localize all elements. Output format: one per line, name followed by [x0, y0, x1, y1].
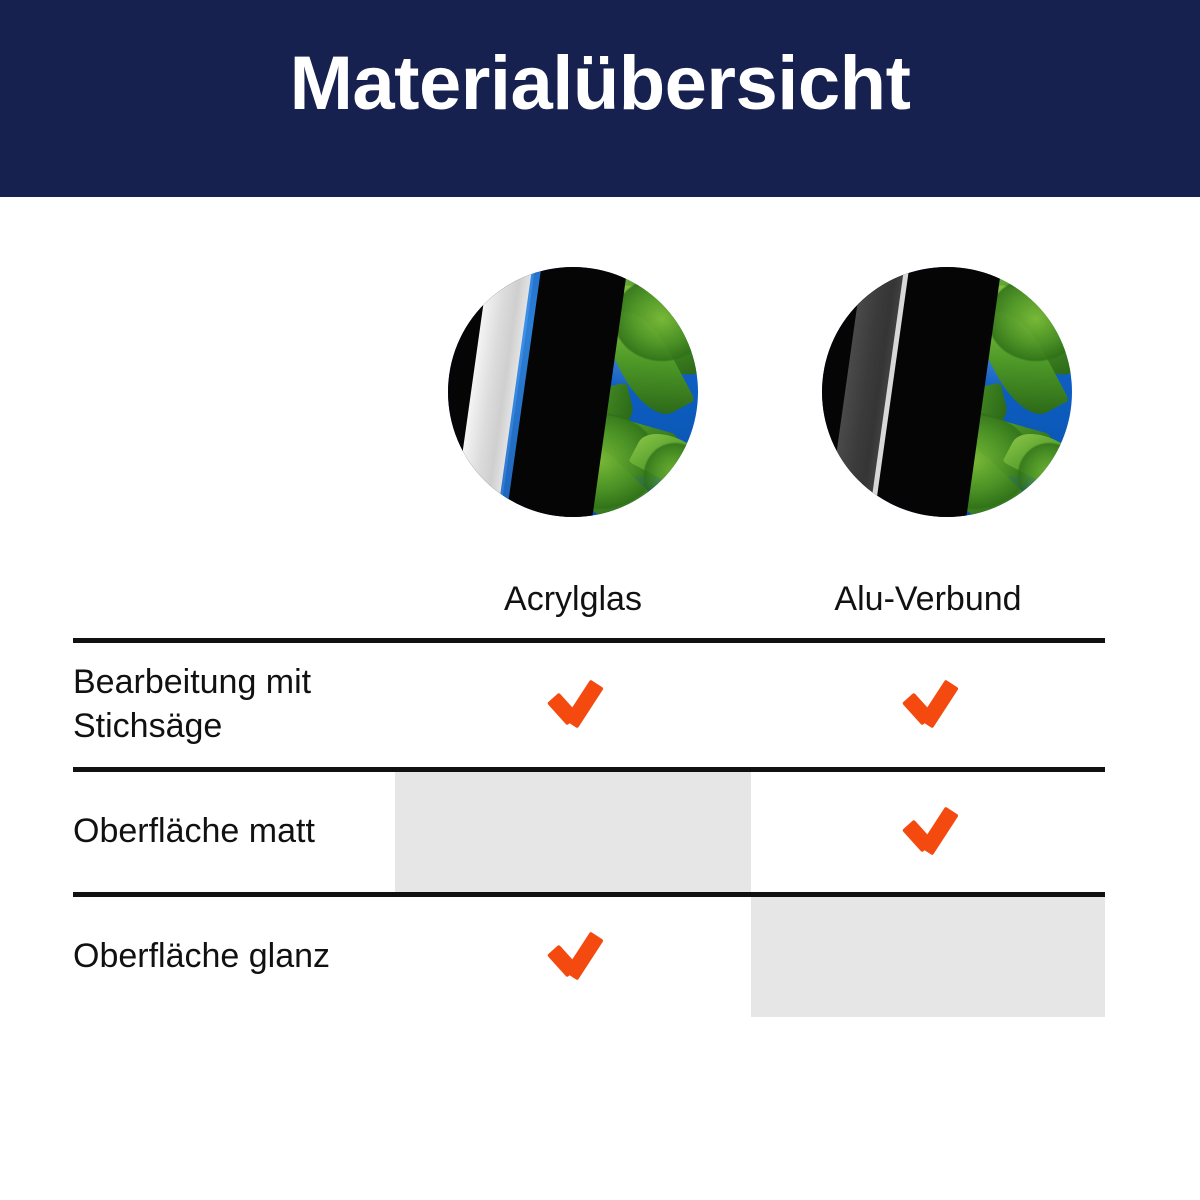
material-comparison-table-wrap: Acrylglas Alu-Verbund Bearbeitung mit St…: [73, 560, 1105, 1012]
cell-matt-acrylglas: [395, 770, 751, 895]
check-mark-icon: [900, 808, 956, 852]
preview-circle-alu-verbund: [822, 267, 1072, 517]
material-comparison-table: Acrylglas Alu-Verbund Bearbeitung mit St…: [73, 560, 1105, 1017]
table-header-blank: [73, 560, 395, 641]
table-row: Oberfläche matt: [73, 770, 1105, 895]
check-mark-icon: [900, 681, 956, 725]
table-row: Oberfläche glanz: [73, 895, 1105, 1018]
check-mark-icon: [545, 933, 601, 977]
table-row: Bearbeitung mit Stichsäge: [73, 641, 1105, 770]
page-title: Materialübersicht: [0, 46, 1200, 122]
cell-matt-alu-verbund: [751, 770, 1105, 895]
cell-glanz-acrylglas: [395, 895, 751, 1018]
check-mark-icon: [545, 681, 601, 725]
table-header-acrylglas: Acrylglas: [395, 560, 751, 641]
material-preview-row: [0, 267, 1200, 517]
row-label-line-2: Stichsäge: [73, 707, 222, 745]
header-band: Materialübersicht: [0, 0, 1200, 197]
table-header-alu-verbund: Alu-Verbund: [751, 560, 1105, 641]
row-label-line-1: Bearbeitung mit: [73, 663, 311, 701]
material-overview-page: Materialübersicht: [0, 0, 1200, 1200]
row-label-oberflaeche-glanz: Oberfläche glanz: [73, 895, 395, 1018]
cell-bearbeitung-alu-verbund: [751, 641, 1105, 770]
row-label-bearbeitung-stichsaege: Bearbeitung mit Stichsäge: [73, 641, 395, 770]
row-label-oberflaeche-matt: Oberfläche matt: [73, 770, 395, 895]
preview-circle-acrylglas: [448, 267, 698, 517]
no-mark: [573, 835, 574, 836]
cell-glanz-alu-verbund: [751, 895, 1105, 1018]
table-header-row: Acrylglas Alu-Verbund: [73, 560, 1105, 641]
cell-bearbeitung-acrylglas: [395, 641, 751, 770]
no-mark: [928, 960, 929, 961]
